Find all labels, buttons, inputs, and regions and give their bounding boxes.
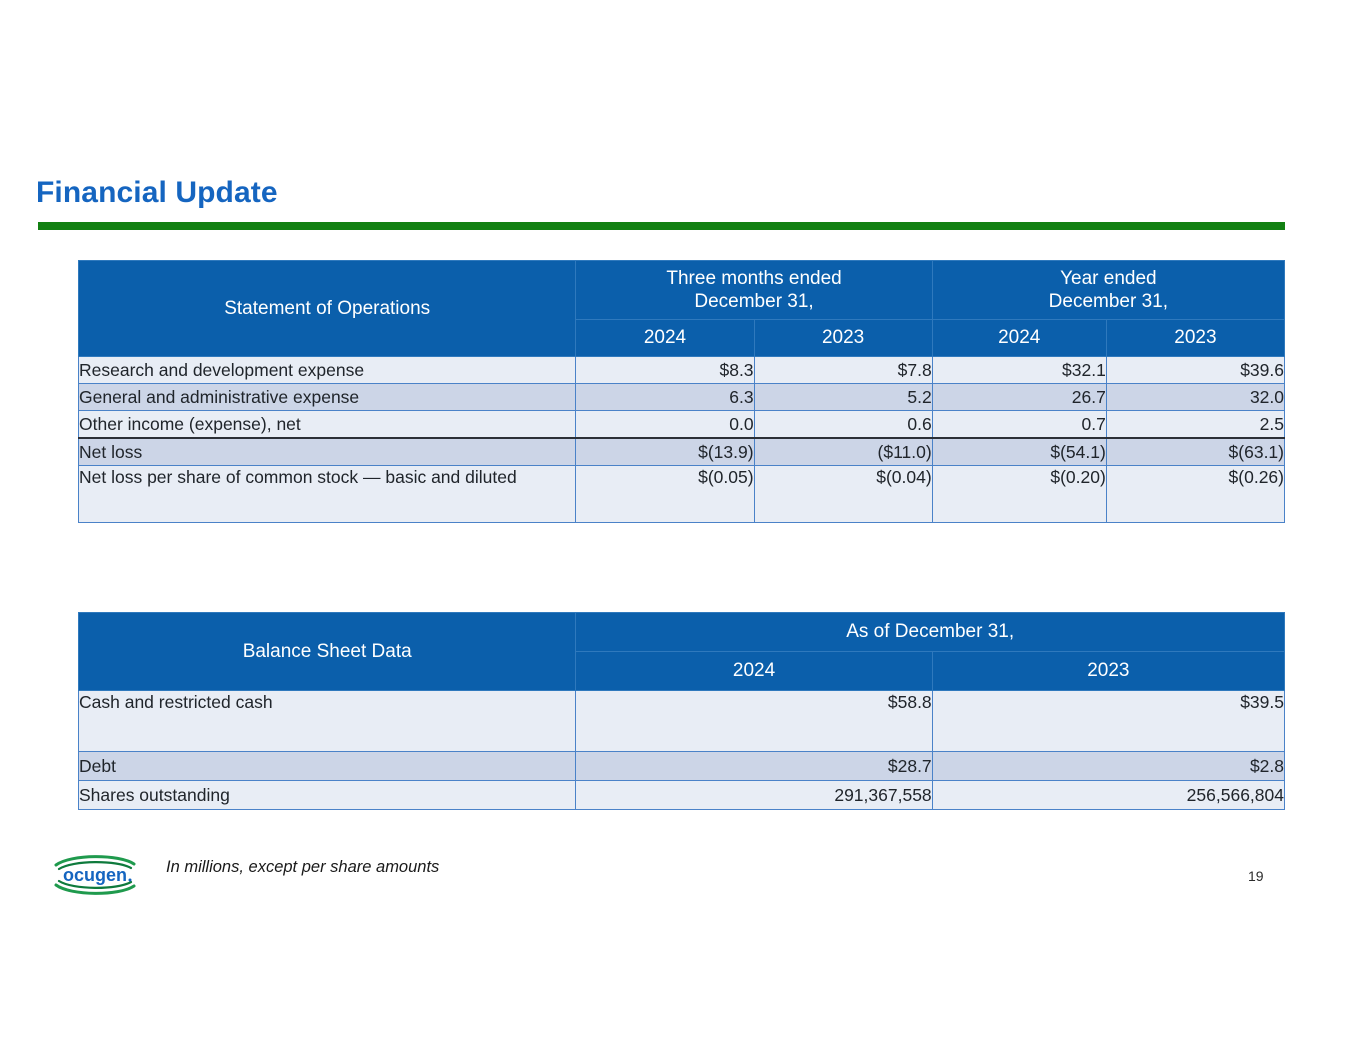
table-row: Research and development expense $8.3 $7…: [79, 357, 1285, 384]
bs-row-2-label: Shares outstanding: [79, 781, 576, 810]
table-row: Net loss per share of common stock — bas…: [79, 466, 1285, 523]
table-header-row-groups: Statement of Operations Three months end…: [79, 261, 1285, 320]
ops-year-header-1: 2023: [754, 320, 932, 357]
bs-row-1-value-1: $2.8: [932, 752, 1284, 781]
table-row-net-loss: Net loss $(13.9) ($11.0) $(54.1) $(63.1): [79, 438, 1285, 466]
table-row: General and administrative expense 6.3 5…: [79, 384, 1285, 411]
statement-of-operations-table: Statement of Operations Three months end…: [78, 260, 1285, 523]
ocugen-logo: ocugen: [53, 852, 137, 898]
bs-row-1-label: Debt: [79, 752, 576, 781]
ops-group-header-year-ended: Year ended December 31,: [932, 261, 1284, 320]
ops-row-1-value-1: 5.2: [754, 384, 932, 411]
ops-row-1-label: General and administrative expense: [79, 384, 576, 411]
page-number: 19: [1248, 868, 1264, 884]
ops-group-header-three-months: Three months ended December 31,: [576, 261, 932, 320]
ops-group-header-year-ended-line1: Year ended: [933, 267, 1284, 290]
ops-row-1-value-2: 26.7: [932, 384, 1106, 411]
ops-year-header-0: 2024: [576, 320, 754, 357]
table-row: Debt $28.7 $2.8: [79, 752, 1285, 781]
ops-row-2-value-1: 0.6: [754, 411, 932, 439]
ops-row-0-value-1: $7.8: [754, 357, 932, 384]
ops-corner-label: Statement of Operations: [79, 261, 576, 357]
ops-row-2-value-2: 0.7: [932, 411, 1106, 439]
table-header-row-group: Balance Sheet Data As of December 31,: [79, 613, 1285, 652]
page-title: Financial Update: [36, 176, 278, 210]
table-row: Cash and restricted cash $58.8 $39.5: [79, 691, 1285, 752]
ops-row-4-value-2: $(0.20): [932, 466, 1106, 523]
ops-row-2-value-0: 0.0: [576, 411, 754, 439]
ops-row-0-value-3: $39.6: [1106, 357, 1284, 384]
ops-row-4-value-3: $(0.26): [1106, 466, 1284, 523]
table-row: Shares outstanding 291,367,558 256,566,8…: [79, 781, 1285, 810]
ops-group-header-year-ended-line2: December 31,: [933, 290, 1284, 313]
balance-sheet-data-table: Balance Sheet Data As of December 31, 20…: [78, 612, 1285, 810]
bs-row-0-value-0: $58.8: [576, 691, 932, 752]
ocugen-logo-mark: ocugen: [53, 852, 137, 898]
ops-row-0-label: Research and development expense: [79, 357, 576, 384]
ops-row-3-label: Net loss: [79, 438, 576, 466]
ops-row-4-value-0: $(0.05): [576, 466, 754, 523]
ops-year-header-2: 2024: [932, 320, 1106, 357]
ops-year-header-3: 2023: [1106, 320, 1284, 357]
ops-row-2-value-3: 2.5: [1106, 411, 1284, 439]
ops-row-3-value-1: ($11.0): [754, 438, 932, 466]
ops-row-4-label: Net loss per share of common stock — bas…: [79, 466, 576, 523]
title-underline-rule: [38, 222, 1285, 230]
bs-year-header-0: 2024: [576, 652, 932, 691]
ops-group-header-three-months-line2: December 31,: [576, 290, 931, 313]
bs-row-0-value-1: $39.5: [932, 691, 1284, 752]
ops-group-header-three-months-line1: Three months ended: [576, 267, 931, 290]
ops-row-0-value-0: $8.3: [576, 357, 754, 384]
ops-row-2-label: Other income (expense), net: [79, 411, 576, 439]
bs-row-2-value-0: 291,367,558: [576, 781, 932, 810]
ops-row-1-value-0: 6.3: [576, 384, 754, 411]
bs-row-1-value-0: $28.7: [576, 752, 932, 781]
ops-row-0-value-2: $32.1: [932, 357, 1106, 384]
ops-row-3-value-3: $(63.1): [1106, 438, 1284, 466]
bs-row-0-label: Cash and restricted cash: [79, 691, 576, 752]
bs-year-header-1: 2023: [932, 652, 1284, 691]
bs-group-header: As of December 31,: [576, 613, 1285, 652]
ops-row-3-value-0: $(13.9): [576, 438, 754, 466]
svg-text:ocugen: ocugen: [63, 865, 127, 885]
ops-row-4-value-1: $(0.04): [754, 466, 932, 523]
table-row: Other income (expense), net 0.0 0.6 0.7 …: [79, 411, 1285, 439]
ops-row-1-value-3: 32.0: [1106, 384, 1284, 411]
bs-corner-label: Balance Sheet Data: [79, 613, 576, 691]
bs-row-2-value-1: 256,566,804: [932, 781, 1284, 810]
ops-row-3-value-2: $(54.1): [932, 438, 1106, 466]
footnote-text: In millions, except per share amounts: [166, 858, 439, 877]
